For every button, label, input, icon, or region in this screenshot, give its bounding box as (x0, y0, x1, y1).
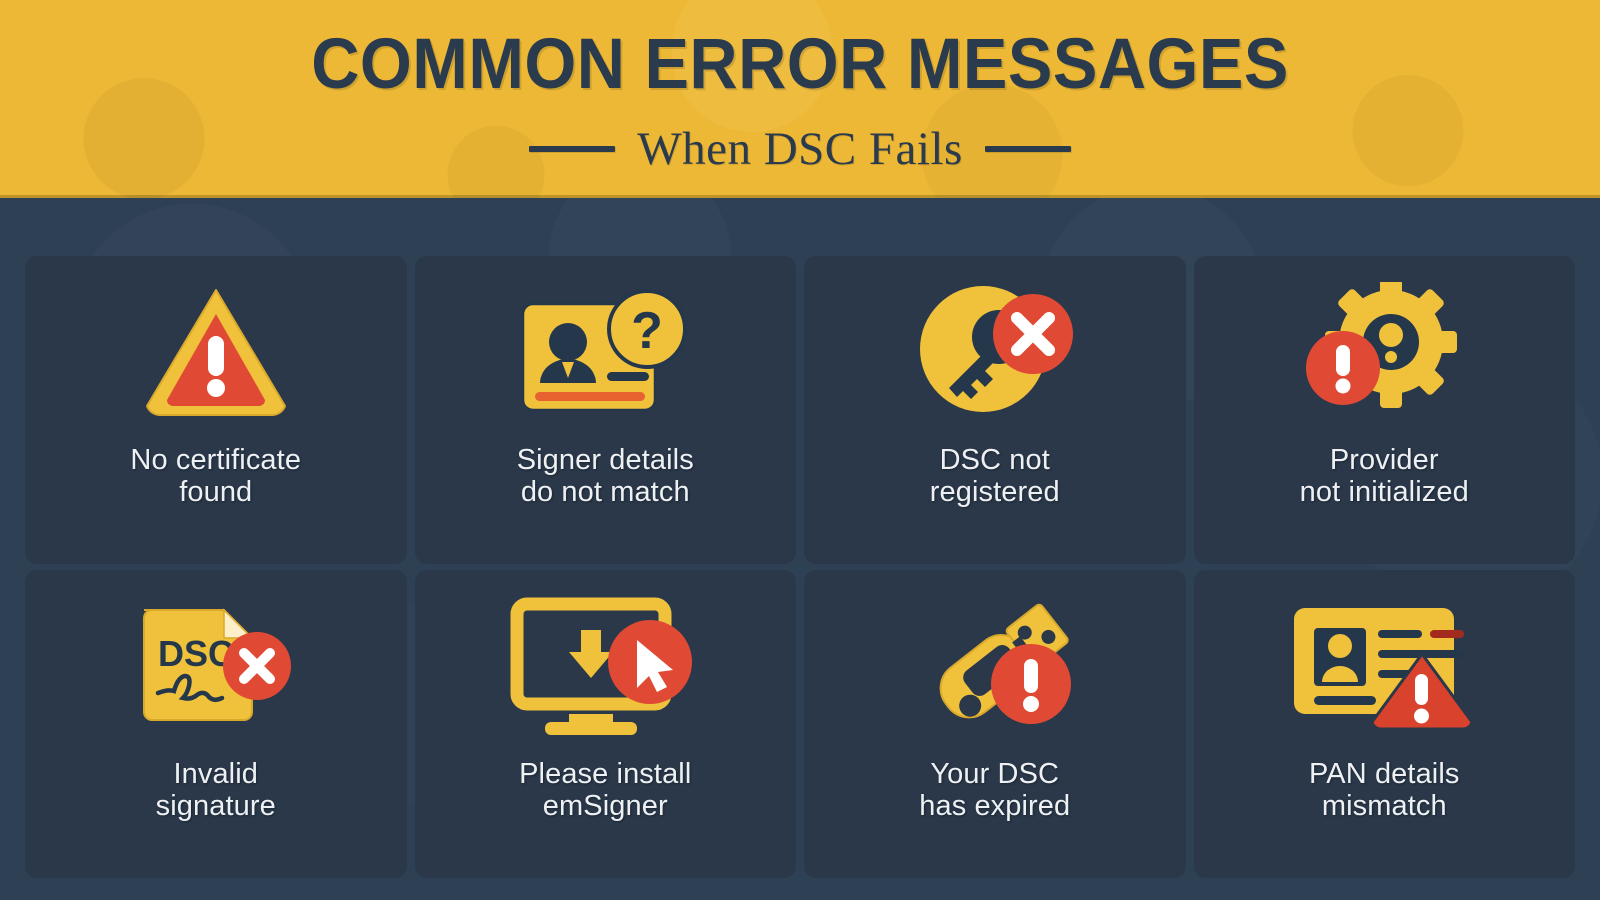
subtitle-row: When DSC Fails (529, 122, 1071, 176)
id-card-question-icon: ? (415, 282, 797, 422)
error-card-label: Provider not initialized (1290, 444, 1479, 509)
page-title: COMMON ERROR MESSAGES (311, 29, 1289, 100)
error-card-signer-details-do-not-match[interactable]: ? Signer details do not match (415, 256, 797, 564)
dsc-document-text: DSC (158, 633, 234, 674)
gear-alert-icon (1194, 282, 1576, 422)
error-card-label: DSC not registered (920, 444, 1070, 509)
error-message-grid: No certificate found ? Signer details do… (25, 256, 1575, 878)
error-card-provider-not-initialized[interactable]: Provider not initialized (1194, 256, 1576, 564)
question-mark-glyph: ? (631, 302, 663, 360)
monitor-download-cursor-icon (415, 596, 797, 736)
page-subtitle: When DSC Fails (637, 122, 963, 176)
error-card-label: Invalid signature (146, 758, 286, 823)
error-card-pan-details-mismatch[interactable]: PAN details mismatch (1194, 570, 1576, 878)
error-card-label: Please install emSigner (509, 758, 701, 823)
error-card-label: Signer details do not match (507, 444, 704, 509)
subtitle-dash-right (985, 146, 1071, 152)
error-card-no-certificate-found[interactable]: No certificate found (25, 256, 407, 564)
pan-card-warning-icon (1194, 596, 1576, 736)
error-card-please-install-emsigner[interactable]: Please install emSigner (415, 570, 797, 878)
header-banner: COMMON ERROR MESSAGES When DSC Fails (0, 0, 1600, 198)
error-card-label: Your DSC has expired (909, 758, 1080, 823)
dsc-document-error-icon: DSC (25, 596, 407, 736)
usb-token-alert-icon (804, 596, 1186, 736)
warning-triangle-icon (25, 282, 407, 422)
error-card-your-dsc-has-expired[interactable]: Your DSC has expired (804, 570, 1186, 878)
error-card-label: PAN details mismatch (1299, 758, 1469, 823)
error-card-label: No certificate found (120, 444, 311, 509)
key-error-icon (804, 282, 1186, 422)
error-card-invalid-signature[interactable]: DSC Invalid signature (25, 570, 407, 878)
subtitle-dash-left (529, 146, 615, 152)
error-card-dsc-not-registered[interactable]: DSC not registered (804, 256, 1186, 564)
